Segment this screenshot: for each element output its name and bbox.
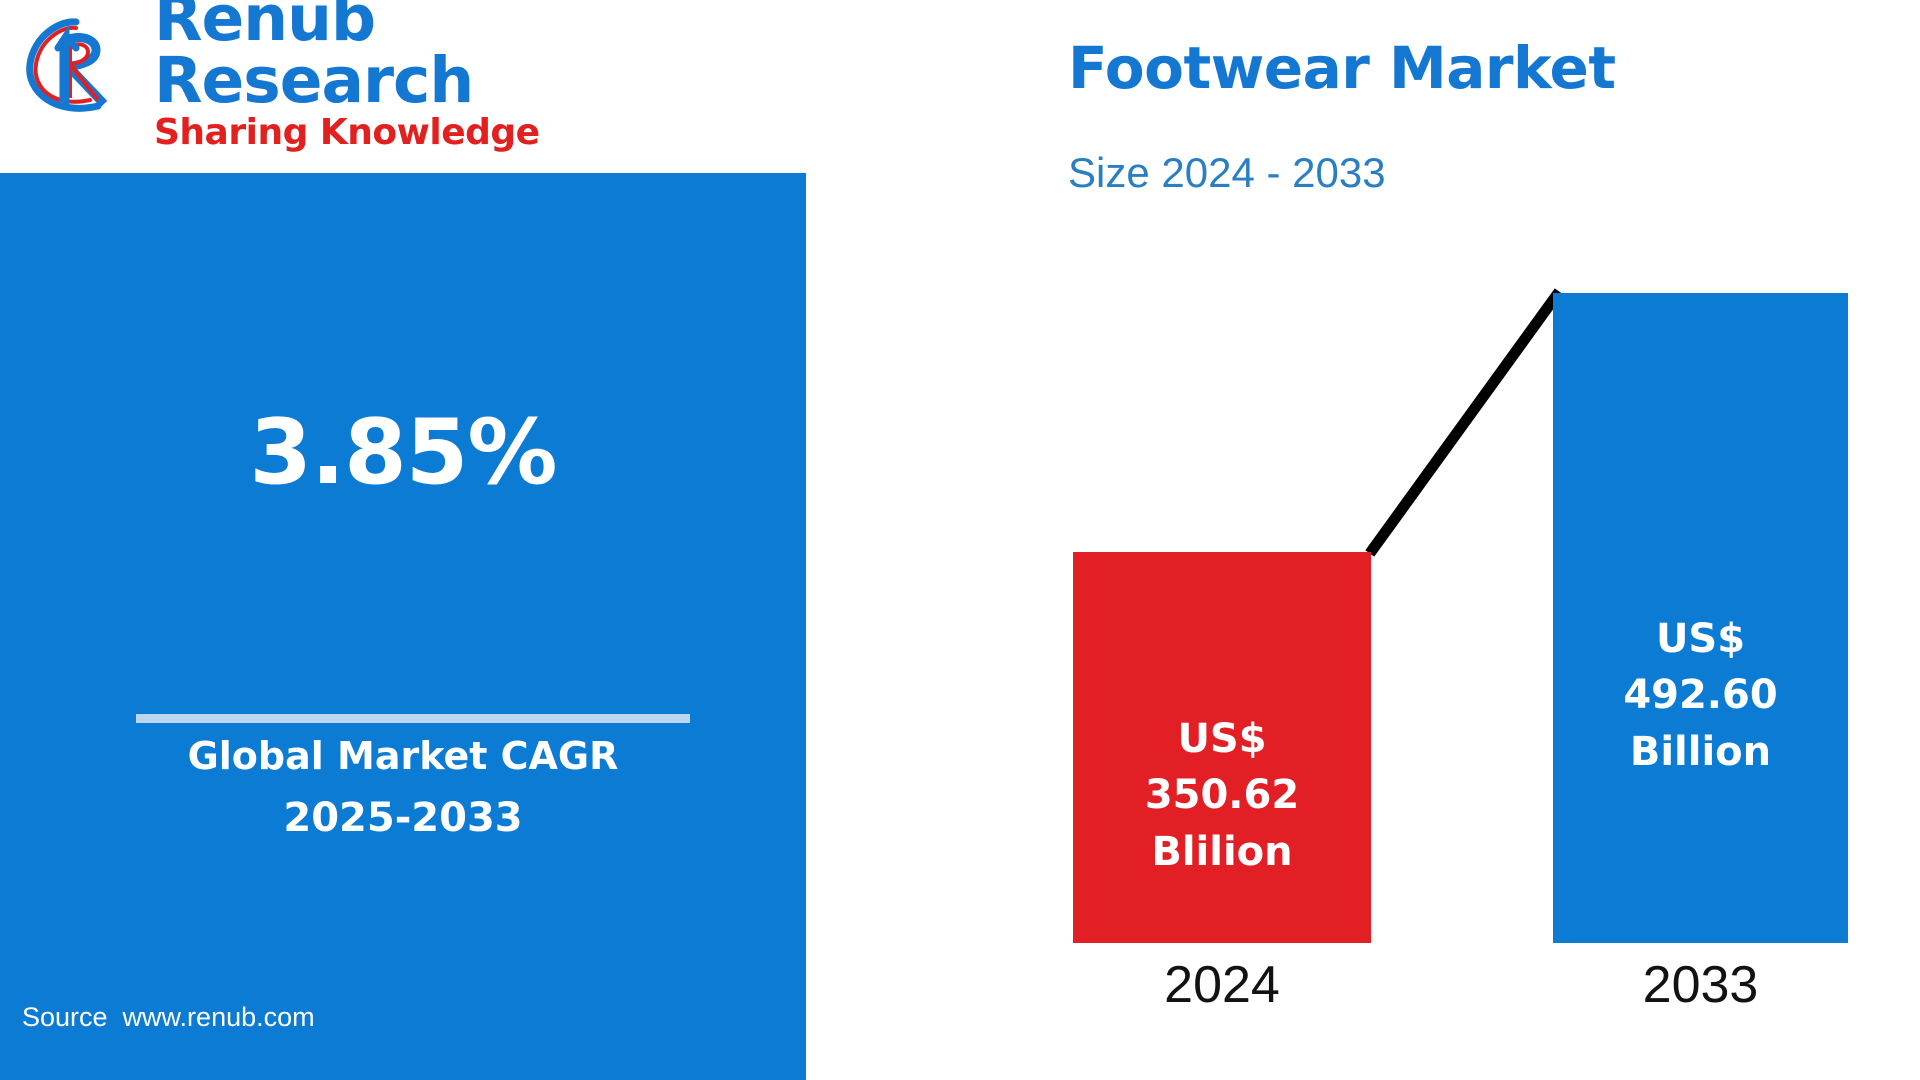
bar-2033-currency: US$	[1656, 611, 1745, 668]
bar-2024-unit: Blilion	[1151, 824, 1292, 881]
brand-tagline: Sharing Knowledge	[154, 114, 640, 152]
brand-logo: Renub Research Sharing Knowledge	[20, 0, 640, 140]
bar-2024-value: 350.62	[1145, 767, 1299, 824]
bar-2033-value: 492.60	[1623, 667, 1777, 724]
bar-2024-currency: US$	[1177, 711, 1266, 768]
page-subtitle: Size 2024 - 2033	[1068, 150, 1386, 196]
source-label: Source www.renub.com	[22, 1002, 315, 1033]
bar-2024[interactable]: US$ 350.62 Blilion	[1073, 552, 1371, 943]
axis-label-2033: 2033	[1553, 955, 1848, 1015]
brand-wordmark: Renub Research Sharing Knowledge	[154, 0, 640, 152]
cagr-panel: 3.85% Global Market CAGR 2025-2033 Sourc…	[0, 173, 806, 1080]
cagr-label-period: 2025-2033	[0, 793, 806, 843]
cagr-label-primary: Global Market CAGR	[0, 733, 806, 781]
brand-name: Renub Research	[154, 0, 640, 112]
cagr-value: 3.85%	[0, 408, 806, 498]
bar-chart: US$ 350.62 Blilion US$ 492.60 Billion 20…	[1040, 250, 1900, 1040]
axis-label-2024: 2024	[1073, 955, 1371, 1015]
bar-2033[interactable]: US$ 492.60 Billion	[1553, 293, 1848, 943]
renub-r-logo-icon	[20, 10, 140, 130]
bar-2033-unit: Billion	[1630, 724, 1771, 781]
page-title: Footwear Market	[1068, 38, 1616, 99]
cagr-divider	[136, 714, 690, 723]
